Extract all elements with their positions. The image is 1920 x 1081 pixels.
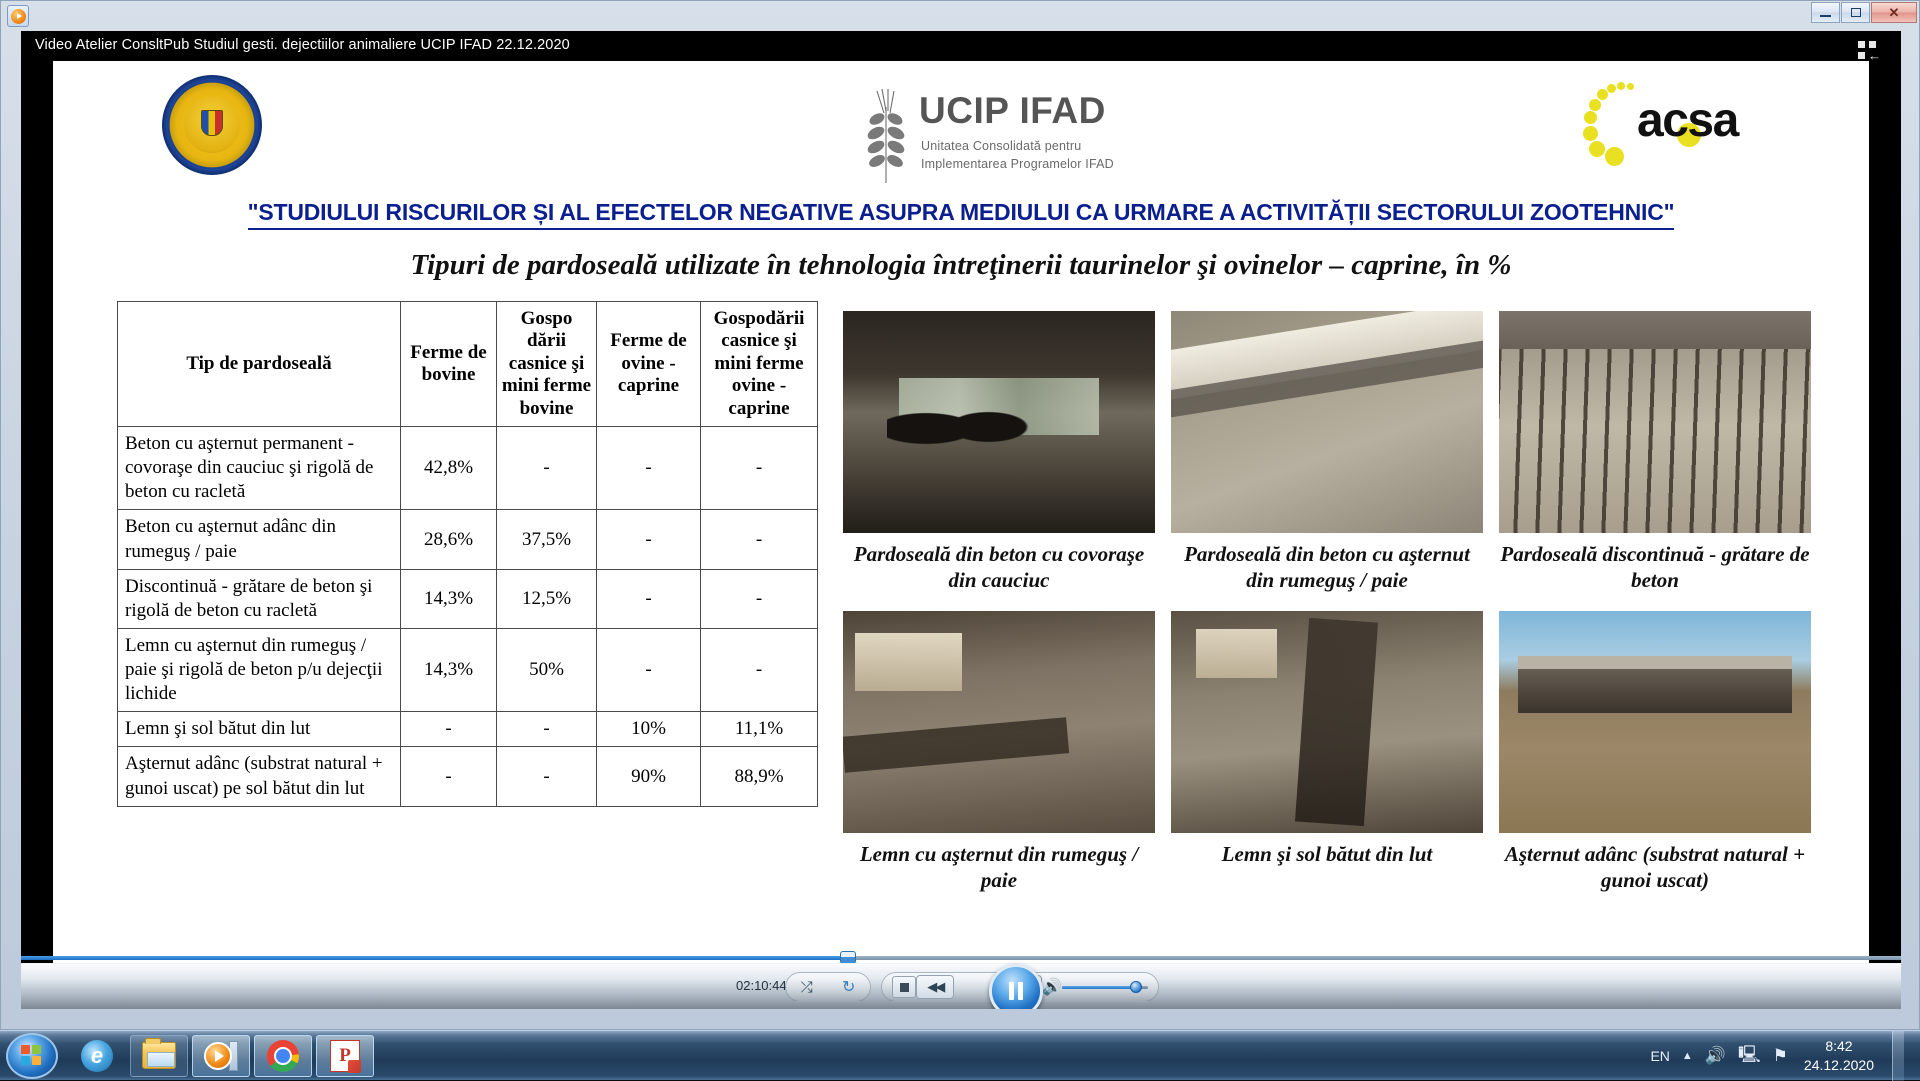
taskbar-internet-explorer[interactable]: e [68,1035,126,1077]
chrome-icon [267,1040,299,1072]
table-row: Beton cu aşternut adânc din rumeguş / pa… [118,510,818,569]
table-cell-value: - [597,569,701,628]
moldova-coat-of-arms-icon [162,75,262,175]
taskbar-windows-media-player[interactable] [192,1035,250,1077]
photo-cell: Pardoseală din beton cu covoraşe din cau… [843,311,1155,593]
table-cell-value: 42,8% [401,427,497,510]
stop-button[interactable] [892,976,916,998]
table-cell-label: Discontinuă - grătare de beton şi rigolă… [118,569,401,628]
windows-media-player-icon [204,1041,238,1071]
powerpoint-icon [330,1040,360,1072]
volume-level [1062,986,1136,989]
photo-concrete-sawdust-bedding [1171,311,1483,533]
clock-date: 24.12.2020 [1804,1056,1874,1075]
photo-caption: Aşternut adânc (substrat natural + gunoi… [1499,842,1811,893]
table-cell-value: - [701,427,818,510]
taskbar-windows-explorer[interactable] [130,1035,188,1077]
shuffle-icon[interactable]: ⤮ [801,979,813,996]
minimize-button[interactable] [1811,2,1840,23]
start-button[interactable] [6,1033,58,1079]
internet-explorer-icon: e [81,1040,113,1072]
table-row: Discontinuă - grătare de beton şi rigolă… [118,569,818,628]
slide-title-text: "STUDIULUI RISCURILOR ȘI AL EFECTELOR NE… [248,199,1675,230]
table-header-cell: Ferme de ovine - caprine [597,302,701,427]
presentation-slide: UCIP IFAD Unitatea Consolidată pentru Im… [53,61,1869,1009]
table-header-cell: Ferme de bovine [401,302,497,427]
table-header-cell: Gospodării casnice şi mini ferme ovine -… [701,302,818,427]
slide-subtitle: Tipuri de pardoseală utilizate în tehnol… [53,249,1869,282]
slide-header: UCIP IFAD Unitatea Consolidată pentru Im… [53,61,1869,193]
table-cell-value: 28,6% [401,510,497,569]
table-cell-value: - [497,427,597,510]
table-header-cell: Gospo dării casnice şi mini ferme bovine [497,302,597,427]
table-cell-value: - [701,569,818,628]
table-cell-value: - [701,628,818,711]
photo-row-top: Pardoseală din beton cu covoraşe din cau… [843,311,1833,593]
media-player-window: ✕ Video Atelier ConsltPub Studiul gesti.… [0,0,1920,1030]
table-cell-value: 11,1% [701,712,818,747]
table-cell-label: Beton cu aşternut permanent - covoraşe d… [118,427,401,510]
table-cell-value: 10% [597,712,701,747]
restore-button[interactable] [1841,2,1870,23]
close-button[interactable]: ✕ [1871,2,1917,23]
ucip-ifad-logo: UCIP IFAD Unitatea Consolidată pentru Im… [863,87,1143,183]
ucip-ifad-name: UCIP IFAD [919,90,1106,132]
transport-bar: 02:10:44 ⤮ ↻ ◀◀ ▶▶ 🔊 [21,963,1901,1009]
seek-bar[interactable] [21,951,1901,963]
photo-wood-clay-soil [1171,611,1483,833]
table-cell-value: - [701,510,818,569]
volume-tray-icon[interactable]: 🔊 [1705,1046,1726,1066]
photo-row-bottom: Lemn cu aşternut din rumeguş / paie Lemn… [843,611,1833,893]
photo-caption: Pardoseală din beton cu aşternut din rum… [1171,542,1483,593]
windows-logo-icon [21,1045,43,1067]
exit-fullscreen-icon[interactable]: ← [1855,39,1885,65]
clock-time: 8:42 [1804,1037,1874,1056]
table-cell-value: 37,5% [497,510,597,569]
show-desktop-button[interactable] [1892,1031,1904,1081]
table-cell-value: 50% [497,628,597,711]
volume-thumb[interactable] [1130,981,1142,993]
rewind-button[interactable]: ◀◀ [916,975,954,999]
taskbar-google-chrome[interactable] [254,1035,312,1077]
table-cell-value: 14,3% [401,628,497,711]
clock[interactable]: 8:42 24.12.2020 [1804,1037,1874,1075]
photo-concrete-rubber-mats [843,311,1155,533]
playback-mode-group: ⤮ ↻ [785,972,871,1002]
table-cell-value: 90% [597,747,701,806]
table-cell-value: 88,9% [701,747,818,806]
table-cell-label: Lemn cu aşternut din rumeguş / paie şi r… [118,628,401,711]
slide-title: "STUDIULUI RISCURILOR ȘI AL EFECTELOR NE… [53,199,1869,226]
pause-button[interactable] [989,964,1043,1009]
repeat-icon[interactable]: ↻ [842,977,855,997]
seek-progress [21,956,848,960]
desktop: ✕ Video Atelier ConsltPub Studiul gesti.… [0,0,1920,1080]
video-surface[interactable]: Video Atelier ConsltPub Studiul gesti. d… [21,31,1901,1009]
table-row: Aşternut adânc (substrat natural + gunoi… [118,747,818,806]
table-cell-label: Beton cu aşternut adânc din rumeguş / pa… [118,510,401,569]
photo-cell: Pardoseală din beton cu aşternut din rum… [1171,311,1483,593]
table-cell-value: - [597,628,701,711]
window-controls[interactable]: ✕ [1811,2,1917,23]
action-center-flag-icon[interactable]: ⚑ [1773,1046,1788,1066]
table-cell-value: - [401,712,497,747]
folder-icon [142,1042,176,1069]
floor-types-table: Tip de pardoseală Ferme de bovine Gospo … [117,301,818,807]
window-titlebar[interactable]: ✕ [1,1,1919,31]
table-cell-value: - [597,510,701,569]
photo-wood-sawdust-bedding [843,611,1155,833]
system-tray: EN ▲ 🔊 🖳 ⚑ 8:42 24.12.2020 [1650,1031,1920,1081]
photo-caption: Lemn cu aşternut din rumeguş / paie [843,842,1155,893]
photo-caption: Pardoseală din beton cu covoraşe din cau… [843,542,1155,593]
ucip-ifad-subtitle-line1: Unitatea Consolidată pentru [921,139,1081,153]
table-cell-label: Aşternut adânc (substrat natural + gunoi… [118,747,401,806]
volume-icon[interactable]: 🔊 [1042,977,1062,997]
table-row: Lemn cu aşternut din rumeguş / paie şi r… [118,628,818,711]
volume-slider[interactable] [1062,981,1148,993]
table-header-row: Tip de pardoseală Ferme de bovine Gospo … [118,302,818,427]
show-hidden-icons-icon[interactable]: ▲ [1682,1050,1693,1062]
photo-cell: Aşternut adânc (substrat natural + gunoi… [1499,611,1811,893]
windows-media-player-icon[interactable] [7,5,29,27]
photo-cell: Lemn şi sol bătut din lut [1171,611,1483,893]
photo-gallery: Pardoseală din beton cu covoraşe din cau… [843,311,1833,893]
table-cell-value: - [497,747,597,806]
elapsed-time: 02:10:44 [736,978,787,993]
table-header-cell: Tip de pardoseală [118,302,401,427]
taskbar-powerpoint[interactable] [316,1035,374,1077]
table-row: Beton cu aşternut permanent - covoraşe d… [118,427,818,510]
photo-caption: Lemn şi sol bătut din lut [1171,842,1483,868]
table-cell-value: - [401,747,497,806]
photo-cell: Pardoseală discontinuă - grătare de beto… [1499,311,1811,593]
wheat-icon [863,87,909,183]
table-row: Lemn şi sol bătut din lut--10%11,1% [118,712,818,747]
network-tray-icon[interactable]: 🖳 [1738,1042,1761,1071]
photo-deep-bedding [1499,611,1811,833]
table-cell-value: 14,3% [401,569,497,628]
photo-cell: Lemn cu aşternut din rumeguş / paie [843,611,1155,893]
table-cell-value: - [597,427,701,510]
taskbar: e EN ▲ 🔊 🖳 ⚑ 8:42 [0,1030,1920,1080]
table-cell-value: 12,5% [497,569,597,628]
acsa-logo: acsa [1581,81,1771,167]
video-title: Video Atelier ConsltPub Studiul gesti. d… [21,31,584,61]
table-body: Beton cu aşternut permanent - covoraşe d… [118,427,818,807]
table-cell-label: Lemn şi sol bătut din lut [118,712,401,747]
photo-caption: Pardoseală discontinuă - grătare de beto… [1499,542,1811,593]
ucip-ifad-subtitle-line2: Implementarea Programelor IFAD [921,157,1114,171]
table-cell-value: - [497,712,597,747]
photo-slatted-concrete [1499,311,1811,533]
language-indicator[interactable]: EN [1650,1048,1669,1064]
acsa-wordmark: acsa [1637,93,1738,148]
